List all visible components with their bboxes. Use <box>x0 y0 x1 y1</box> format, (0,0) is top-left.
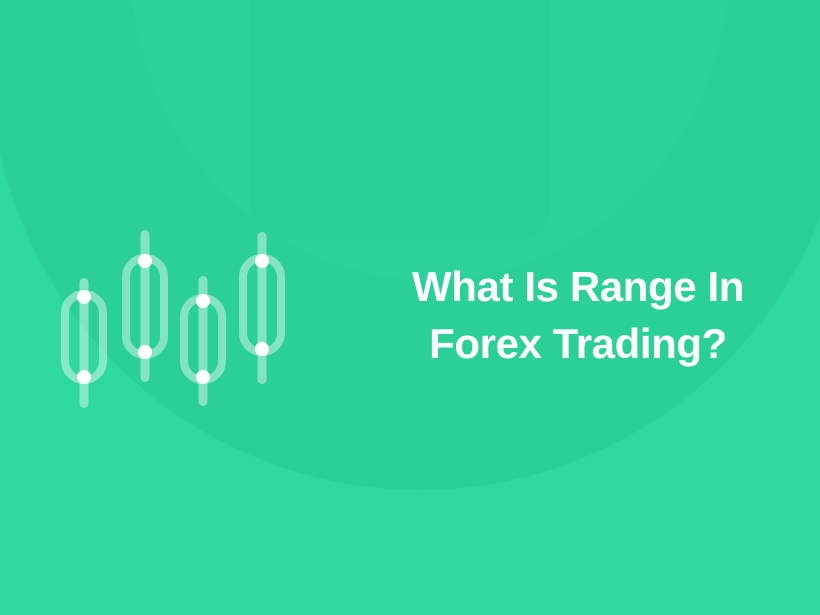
candle-marker-open-4 <box>255 254 269 268</box>
candlestick-chart <box>48 210 298 425</box>
candlestick-2 <box>126 230 164 382</box>
candle-marker-close-4 <box>255 342 269 356</box>
candlestick-1 <box>65 278 103 408</box>
candlestick-3 <box>184 276 222 406</box>
candle-marker-open-1 <box>77 290 91 304</box>
candle-marker-close-1 <box>77 370 91 384</box>
headline-line-1: What Is Range In <box>378 258 778 315</box>
candlestick-4 <box>243 232 281 384</box>
banner-root: What Is Range In Forex Trading? <box>0 0 820 615</box>
candle-marker-close-2 <box>138 345 152 359</box>
candle-marker-open-3 <box>196 294 210 308</box>
candle-wick-2 <box>141 230 150 382</box>
watermark-rounded-square <box>250 0 550 240</box>
headline-line-2: Forex Trading? <box>378 315 778 372</box>
headline: What Is Range In Forex Trading? <box>378 258 778 372</box>
candle-marker-close-3 <box>196 370 210 384</box>
candle-marker-open-2 <box>138 254 152 268</box>
